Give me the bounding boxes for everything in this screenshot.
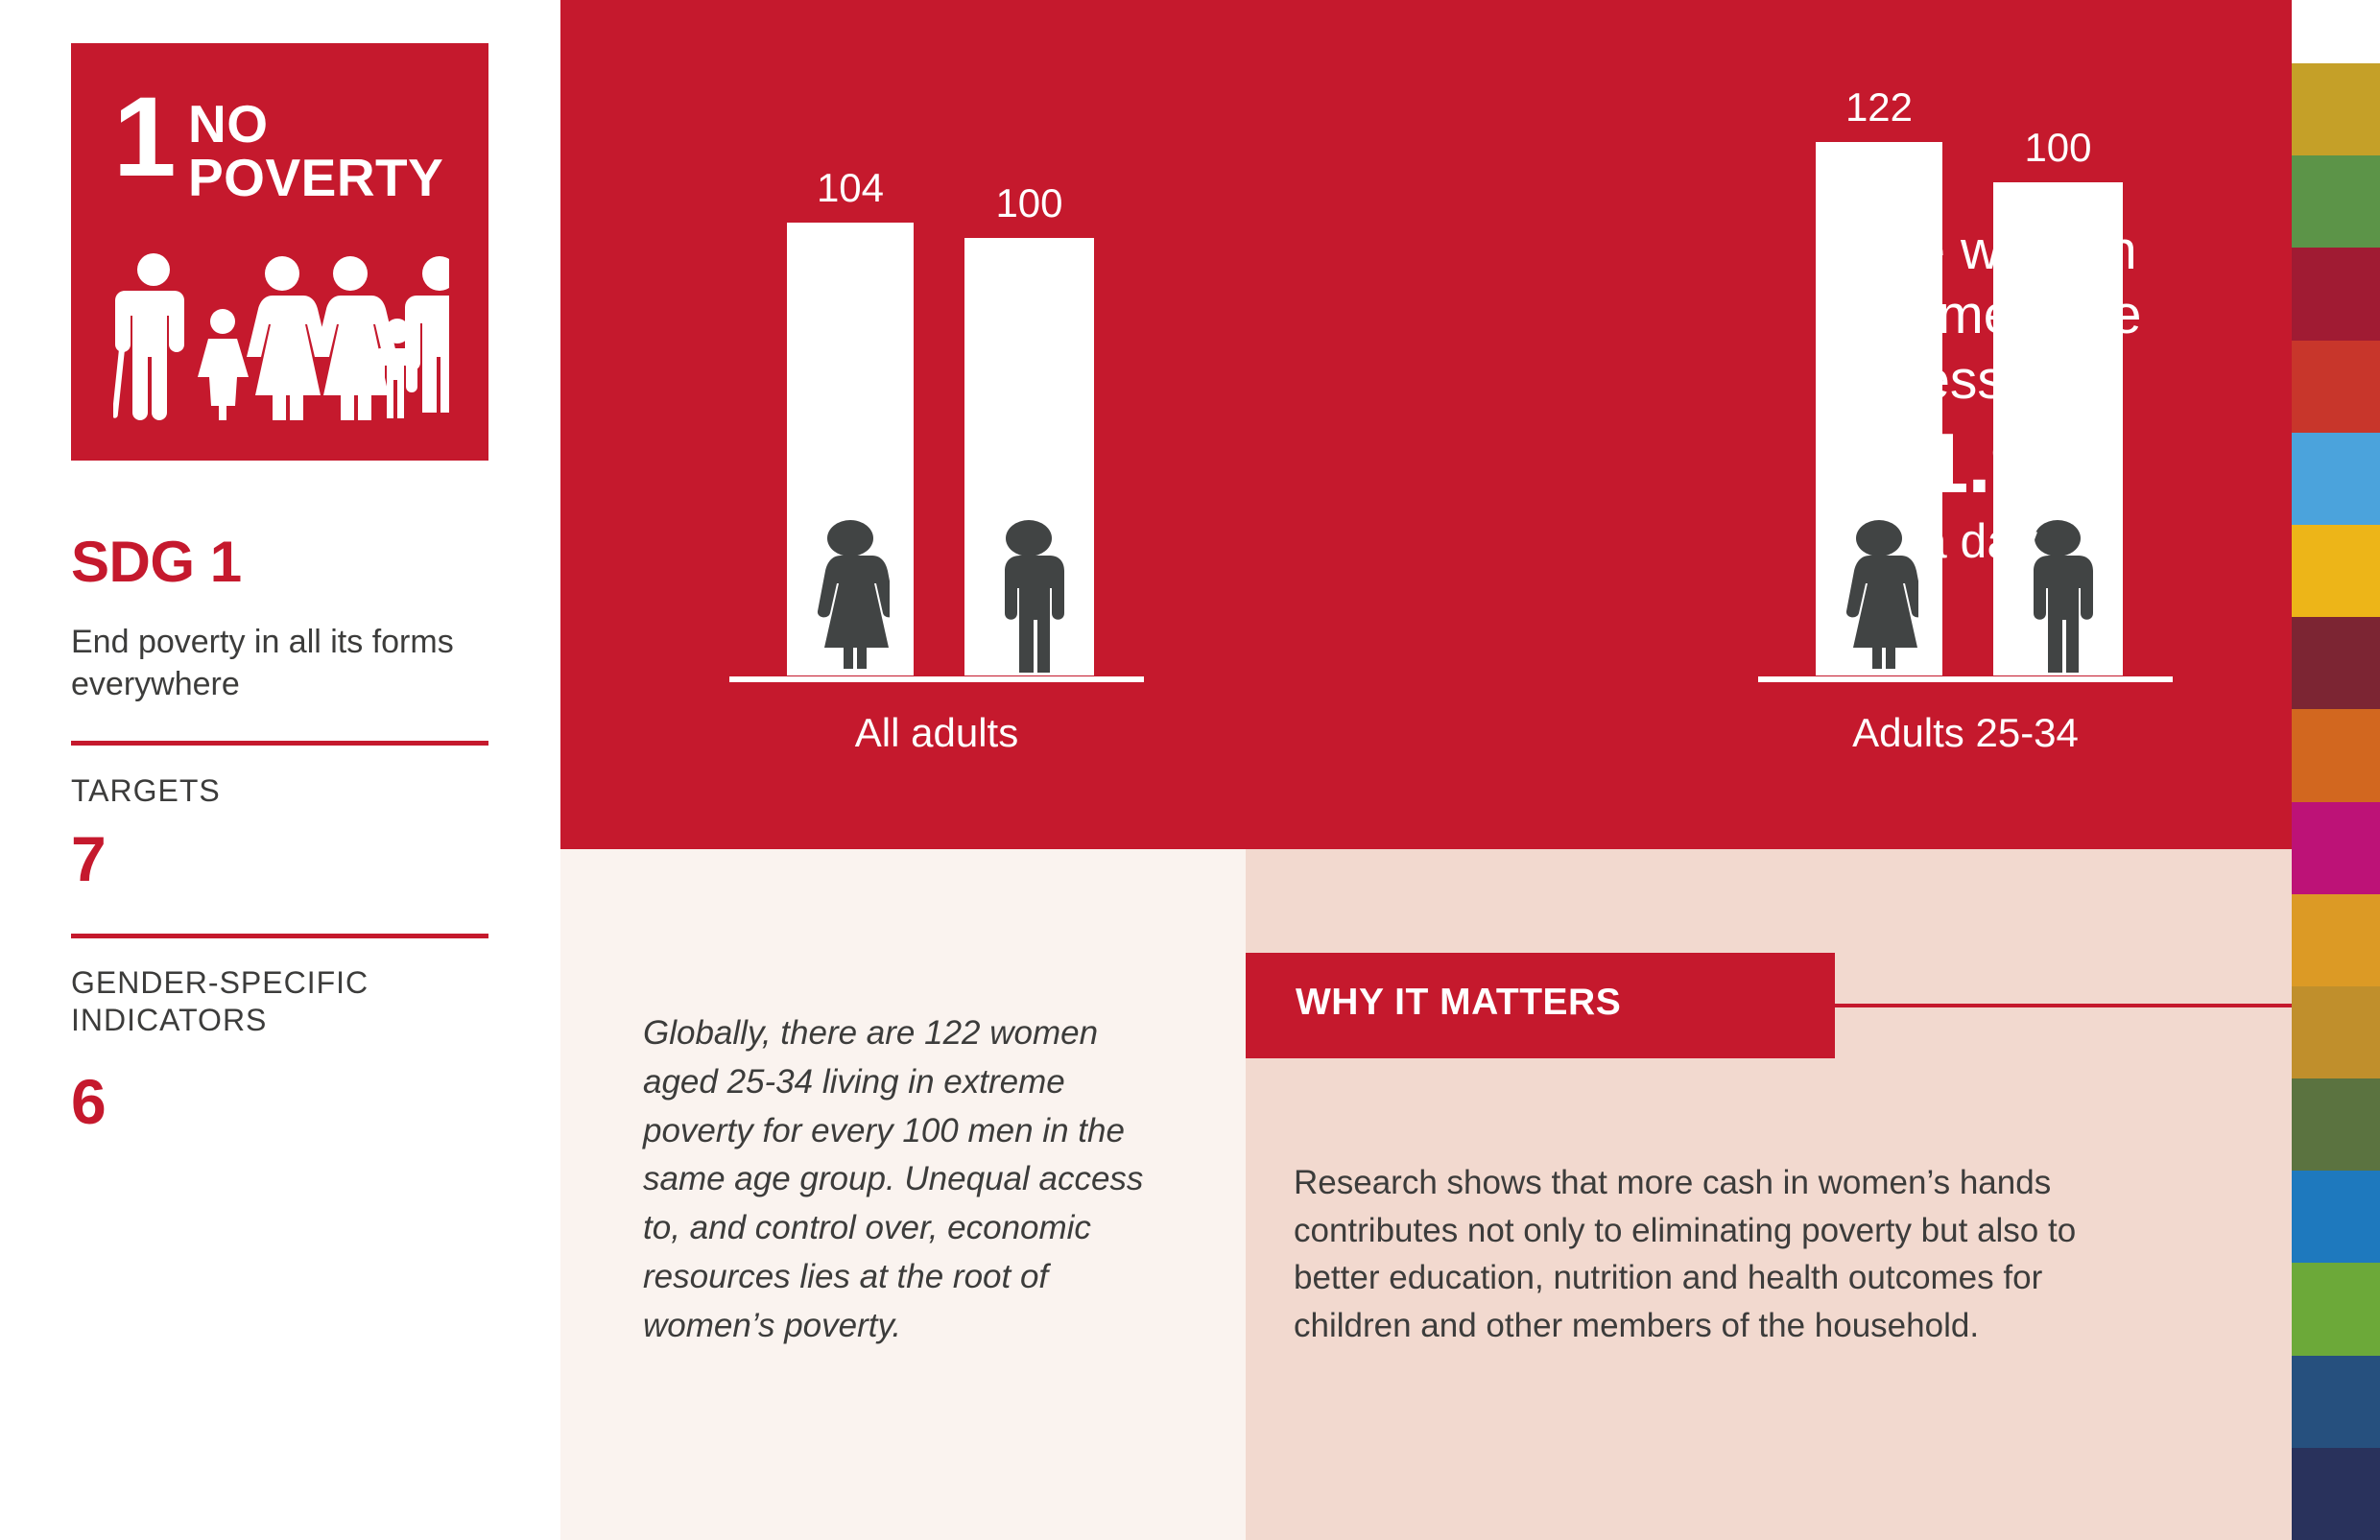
headline-line-3: on less than [1831,349,2126,411]
sdg-color-swatch-2 [2292,155,2380,248]
sdg-color-swatch-1 [2292,63,2380,155]
headline: More women than men live on less than $1… [1720,219,2238,570]
why-it-matters-banner: WHY IT MATTERS [1246,953,1835,1058]
sdg-color-swatch-15 [2292,1356,2380,1448]
chart-panel: 104 100 All adults 122 [560,0,2292,849]
sdg-color-swatch-8 [2292,709,2380,801]
chart-group-all-adults: 104 100 All adults [729,0,1144,849]
page-title: SDG 1 [71,529,242,595]
fact-text: Globally, there are 122 women aged 25-34… [643,1009,1161,1350]
bar-value-women-adults-25-34: 122 [1816,87,1942,128]
chart-baseline-left [729,676,1144,682]
chart-category-label-adults-25-34: Adults 25-34 [1758,710,2173,756]
family-group-icon [113,252,449,420]
sdg-color-strip [2292,63,2380,1540]
infographic-page: 1 NOPOVERTY [0,0,2380,1540]
sdg-color-swatch-9 [2292,802,2380,894]
sdg-goal-tile: 1 NOPOVERTY [71,43,488,461]
bar-value-men-adults-25-34: 100 [1993,128,2123,168]
sdg-color-swatch-7 [2292,617,2380,709]
sidebar: 1 NOPOVERTY [0,0,560,1540]
sdg-color-swatch-6 [2292,525,2380,617]
targets-value: 7 [71,827,107,890]
sdg-color-swatch-16 [2292,1448,2380,1540]
headline-amount: $1.90 [1720,416,2238,511]
sdg-color-swatch-14 [2292,1263,2380,1355]
sdg-color-swatch-12 [2292,1078,2380,1171]
headline-line-1: More women [1821,220,2136,281]
sdg-color-swatch-13 [2292,1171,2380,1263]
sdg-goal-number: 1 [113,89,175,186]
sdg-color-swatch-4 [2292,341,2380,433]
chart-baseline-right [1758,676,2173,682]
woman-figure-icon [811,519,890,673]
bar-value-men-all-adults: 100 [964,183,1094,224]
chart-category-label-all-adults: All adults [729,710,1144,756]
why-it-matters-heading: WHY IT MATTERS [1296,982,1621,1024]
bar-value-women-all-adults: 104 [787,168,914,208]
sdg-color-swatch-10 [2292,894,2380,986]
sdg-color-swatch-3 [2292,248,2380,340]
indicators-value: 6 [71,1070,107,1133]
sdg-color-swatch-5 [2292,433,2380,525]
goal-description: End poverty in all its forms everywhere [71,622,474,705]
sdg-color-swatch-11 [2292,986,2380,1078]
divider-top [71,741,488,746]
indicators-label: GENDER-SPECIFICINDICATORS [71,964,369,1039]
man-figure-icon [989,519,1068,673]
headline-suffix: a day [1720,512,2238,570]
sdg-goal-words: NOPOVERTY [188,97,443,204]
divider-bottom [71,934,488,938]
why-it-matters-text: Research shows that more cash in women’s… [1294,1159,2129,1350]
headline-line-2: than men live [1816,284,2141,345]
fact-panel: Globally, there are 122 women aged 25-34… [560,849,1246,1540]
targets-label: TARGETS [71,772,221,810]
